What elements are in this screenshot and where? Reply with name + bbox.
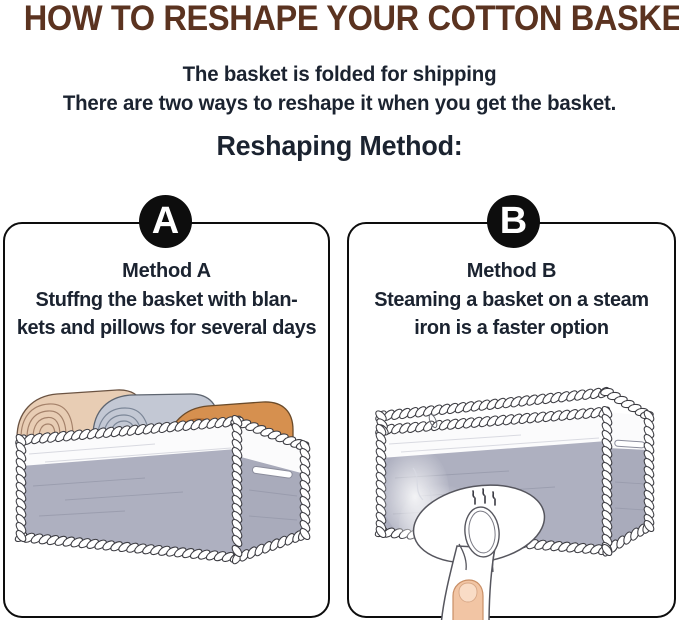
method-badge-a: A <box>139 195 192 248</box>
method-b-illustration <box>349 374 674 623</box>
method-a-text: Method A Stuffng the basket with blan- k… <box>9 256 324 342</box>
method-card-b: Method B Steaming a basket on a steam ir… <box>347 222 676 618</box>
method-a-description-line-1: Stuffng the basket with blan- <box>14 286 320 314</box>
thumbnail <box>459 583 477 602</box>
section-heading: Reshaping Method: <box>14 130 666 162</box>
method-badge-b: B <box>487 195 540 248</box>
subtitle-line-2: There are two ways to reshape it when yo… <box>17 89 662 118</box>
method-a-title: Method A <box>9 256 324 286</box>
subtitle-block: The basket is folded for shipping There … <box>0 60 679 118</box>
method-b-description-line-1: Steaming a basket on a steam <box>358 286 665 314</box>
page-title: HOW TO RESHAPE YOUR COTTON BASKET <box>24 0 655 40</box>
method-b-title: Method B <box>353 256 670 286</box>
method-a-illustration <box>5 374 328 623</box>
method-card-a: Method A Stuffng the basket with blan- k… <box>3 222 330 618</box>
method-b-description-line-2: iron is a faster option <box>358 314 665 342</box>
infographic-poster: HOW TO RESHAPE YOUR COTTON BASKET The ba… <box>0 0 679 623</box>
subtitle-line-1: The basket is folded for shipping <box>17 60 662 89</box>
method-b-text: Method B Steaming a basket on a steam ir… <box>353 256 670 342</box>
method-a-description-line-2: kets and pillows for several days <box>14 314 320 342</box>
